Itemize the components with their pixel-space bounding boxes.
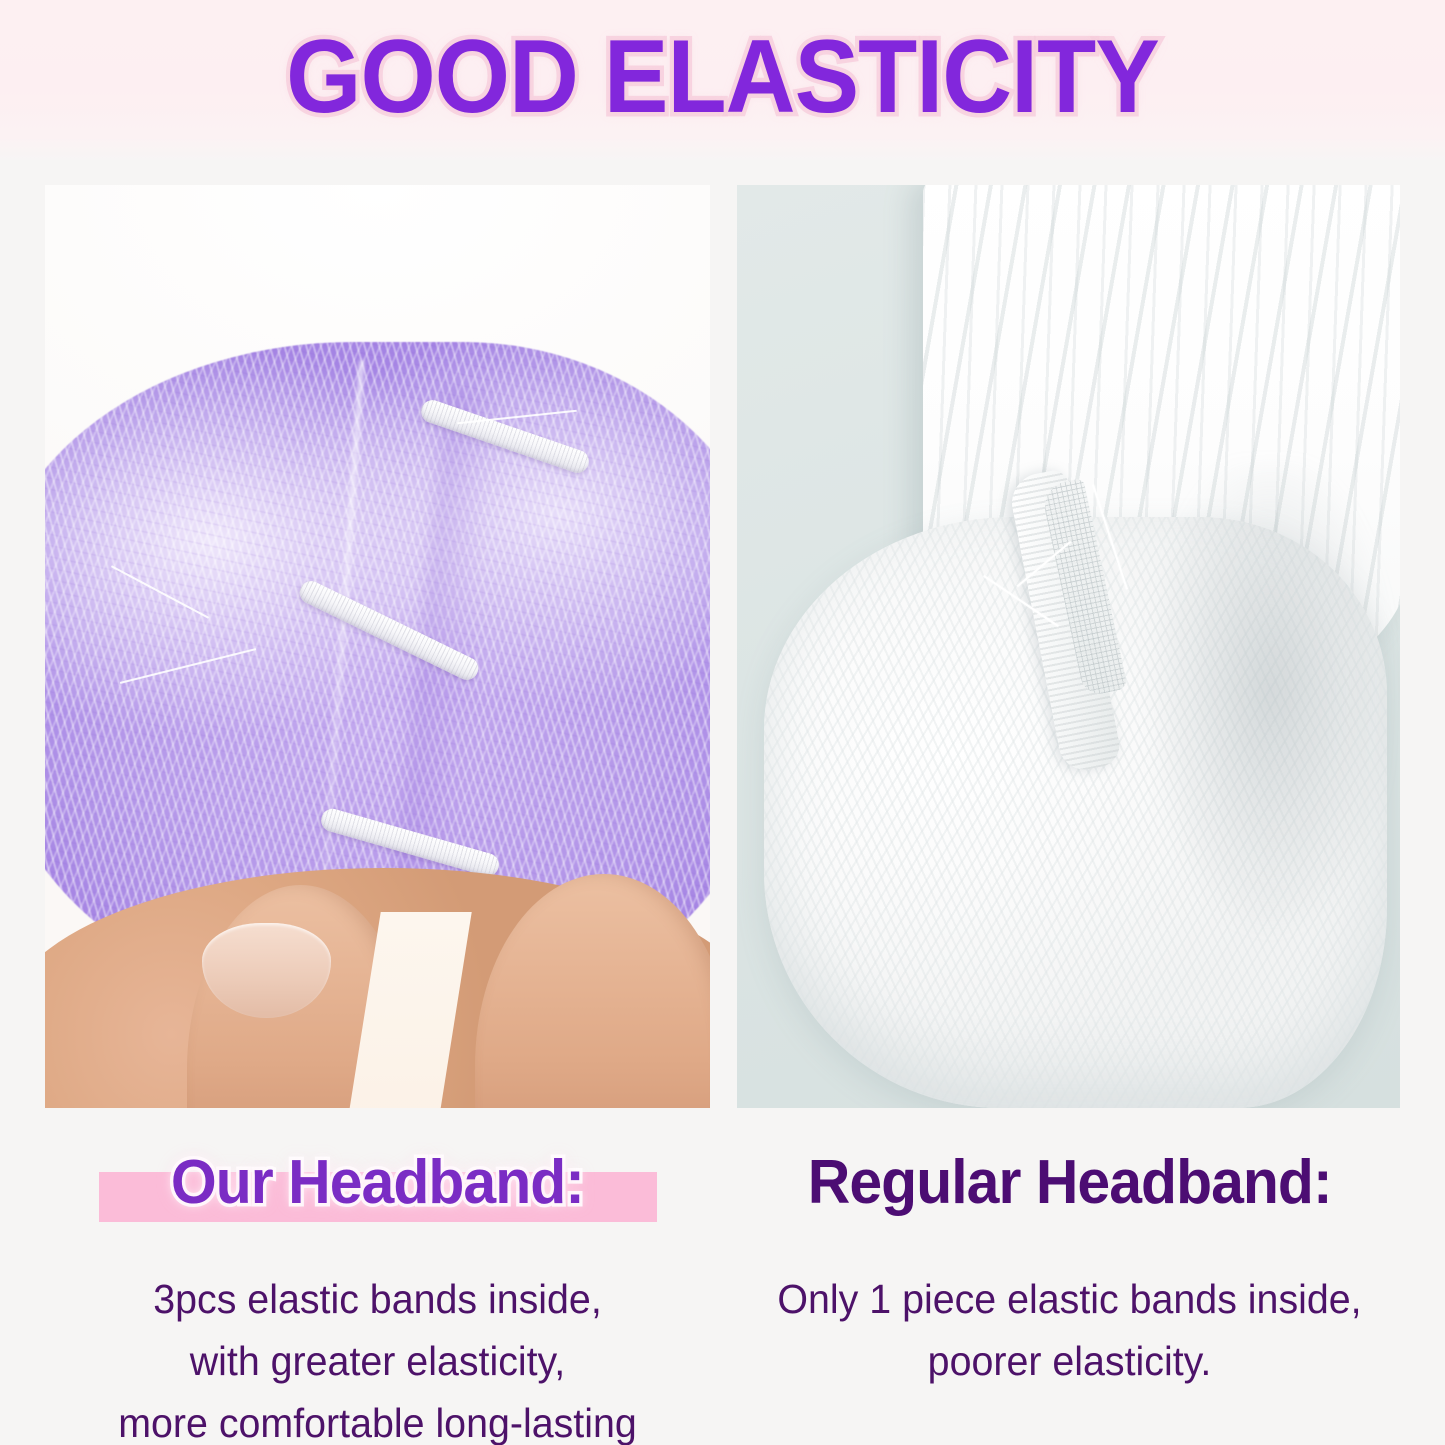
body-line: with greater elasticity,	[58, 1330, 696, 1392]
hand	[45, 868, 710, 1108]
our-headband-photo	[45, 185, 710, 1108]
regular-headband-heading-wrap: Regular Headband:	[737, 1140, 1402, 1232]
our-headband-body: 3pcs elastic bands inside, with greater …	[58, 1268, 696, 1445]
regular-headband-body: Only 1 piece elastic bands inside, poore…	[750, 1268, 1388, 1392]
regular-headband-caption: Regular Headband: Only 1 piece elastic b…	[737, 1140, 1402, 1392]
infographic-page: GOOD ELASTICITY	[0, 0, 1445, 1445]
fabric-shadow	[1095, 462, 1387, 1034]
body-line: 3pcs elastic bands inside,	[58, 1268, 696, 1330]
body-line: poorer elasticity.	[750, 1330, 1388, 1392]
body-line: Only 1 piece elastic bands inside,	[750, 1268, 1388, 1330]
regular-headband-photo	[737, 185, 1400, 1108]
our-headband-heading: Our Headband:	[171, 1140, 584, 1226]
body-line: more comfortable long-lasting	[58, 1392, 696, 1445]
regular-headband-heading: Regular Headband:	[808, 1140, 1332, 1226]
finger	[475, 874, 710, 1108]
our-headband-caption: Our Headband: 3pcs elastic bands inside,…	[45, 1140, 710, 1445]
our-headband-heading-wrap: Our Headband:	[45, 1140, 710, 1232]
